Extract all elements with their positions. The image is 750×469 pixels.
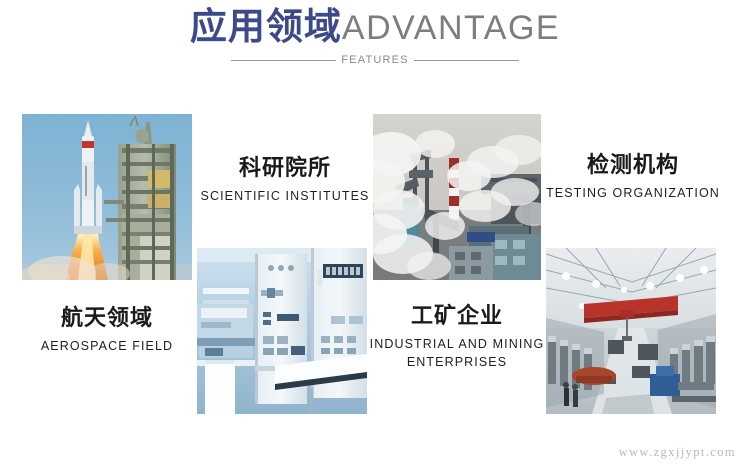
caption-scientific-english: SCIENTIFIC INSTITUTES xyxy=(190,187,380,205)
caption-scientific-chinese: 科研院所 xyxy=(190,155,380,180)
caption-industrial-chinese: 工矿企业 xyxy=(368,303,546,328)
divider-line-left xyxy=(231,60,336,61)
caption-aerospace-chinese: 航天领域 xyxy=(12,305,202,330)
laboratory-equipment-photo xyxy=(197,248,367,414)
caption-scientific: 科研院所 SCIENTIFIC INSTITUTES xyxy=(190,155,380,205)
caption-testing-english: TESTING ORGANIZATION xyxy=(538,184,728,202)
factory-interior-illustration xyxy=(546,248,716,414)
caption-industrial: 工矿企业 INDUSTRIAL AND MINING ENTERPRISES xyxy=(368,303,546,372)
divider-line-right xyxy=(414,60,519,61)
caption-testing: 检测机构 TESTING ORGANIZATION xyxy=(538,152,728,202)
industrial-smokestacks-photo xyxy=(373,114,541,280)
caption-aerospace: 航天领域 AEROSPACE FIELD xyxy=(12,305,202,355)
subtitle-label: FEATURES xyxy=(336,54,413,66)
rocket-launch-illustration xyxy=(22,114,192,280)
page-header: 应用领域ADVANTAGE FEATURES xyxy=(0,8,750,66)
page-title-chinese: 应用领域 xyxy=(190,6,342,47)
page-title-english: ADVANTAGE xyxy=(342,9,560,47)
site-watermark: www.zgxjjypt.com xyxy=(619,445,736,460)
factory-interior-photo xyxy=(546,248,716,414)
rocket-launch-photo xyxy=(22,114,192,280)
caption-aerospace-english: AEROSPACE FIELD xyxy=(12,337,202,355)
caption-testing-chinese: 检测机构 xyxy=(538,152,728,177)
industrial-plant-illustration xyxy=(373,114,541,280)
caption-industrial-english: INDUSTRIAL AND MINING ENTERPRISES xyxy=(368,335,546,371)
page-title: 应用领域ADVANTAGE xyxy=(0,8,750,45)
subtitle-divider: FEATURES xyxy=(0,54,750,66)
laboratory-illustration xyxy=(197,248,367,414)
advantage-banner: 应用领域ADVANTAGE FEATURES xyxy=(0,0,750,469)
